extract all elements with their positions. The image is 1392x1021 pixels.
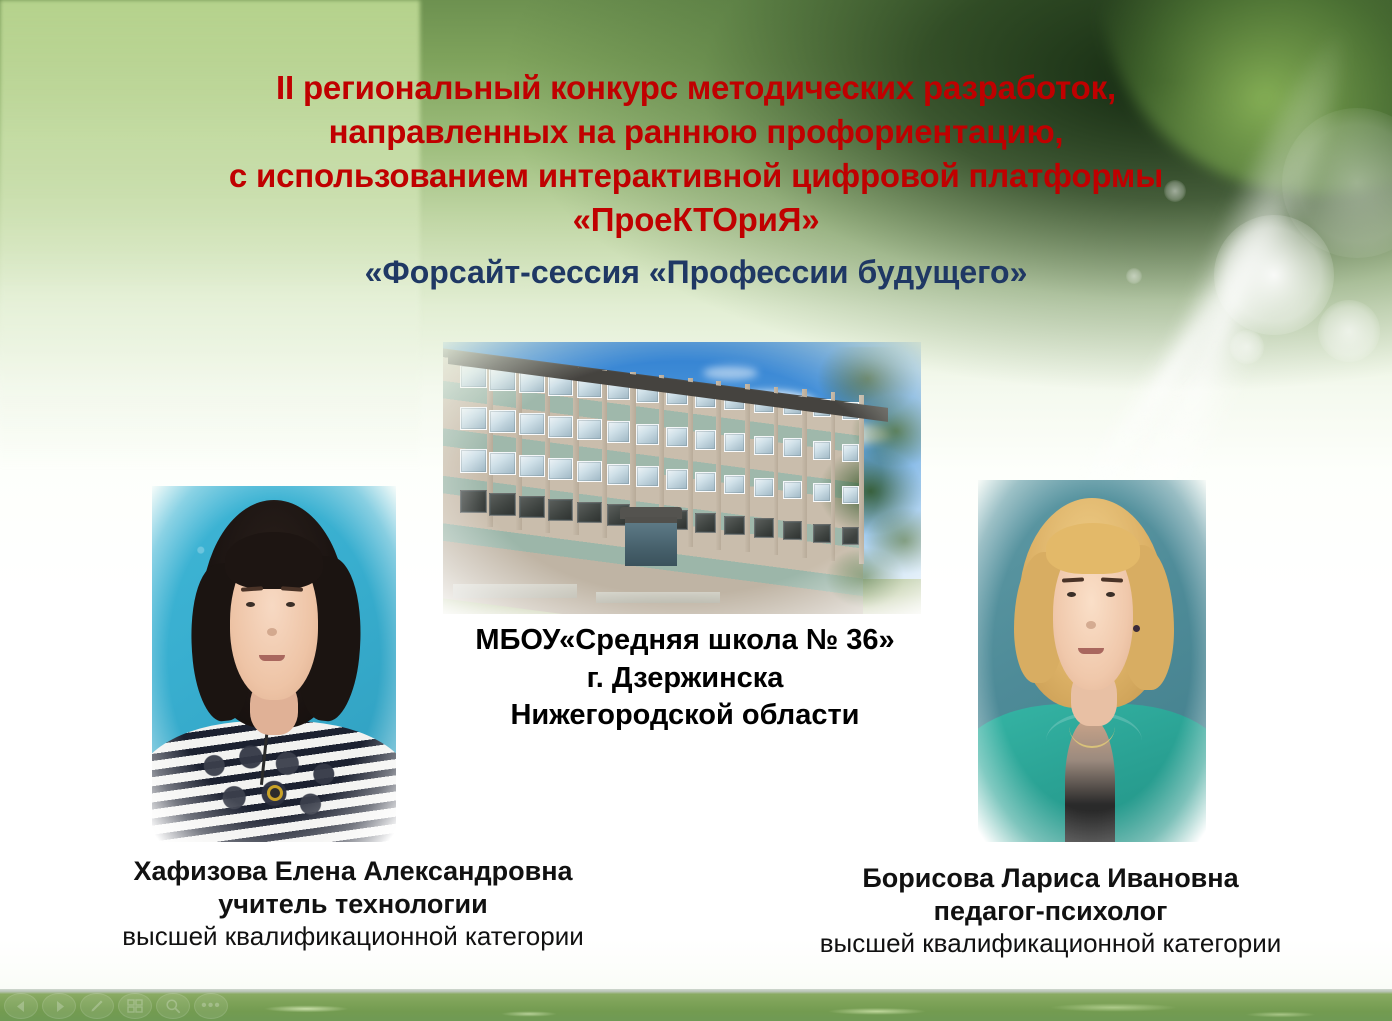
entrance-door	[625, 517, 678, 566]
building-window	[636, 424, 659, 445]
building-window	[548, 416, 573, 438]
portrait-borisova	[978, 480, 1206, 842]
person-name: Хафизова Елена Александровна	[18, 855, 688, 888]
building-window	[695, 513, 716, 533]
caption-hafizova: Хафизова Елена Александровна учитель тех…	[18, 855, 688, 953]
building-window	[607, 464, 631, 485]
eye-left-r	[286, 602, 295, 607]
building-window	[636, 466, 659, 487]
caption-borisova: Борисова Лариса Ивановна педагог-психоло…	[718, 862, 1383, 960]
all-slides-button[interactable]	[118, 993, 152, 1019]
page-subtitle: «Форсайт-сессия «Профессии будущего»	[40, 252, 1352, 294]
title-line-4: «ПроеКТОриЯ»	[40, 198, 1352, 242]
building-window	[519, 496, 545, 518]
person-qualification: высшей квалификационной категории	[18, 921, 688, 953]
facade-pier	[745, 384, 750, 553]
title-line-1: II региональный конкурс методических раз…	[40, 66, 1352, 110]
earring-right	[1133, 625, 1140, 632]
building-window	[460, 365, 488, 388]
more-options-button[interactable]: •••	[194, 993, 228, 1019]
person-role: учитель технологии	[18, 888, 688, 921]
building-window	[577, 502, 601, 524]
school-caption: МБОУ«Средняя школа № 36» г. Дзержинска Н…	[360, 622, 1010, 735]
facade-pier	[688, 378, 693, 547]
building-window	[754, 518, 774, 537]
building-window	[724, 433, 744, 453]
mouth-left	[259, 655, 285, 661]
building-window	[548, 458, 573, 480]
building-window	[724, 516, 744, 536]
building-window	[783, 521, 802, 540]
building-window	[695, 472, 716, 492]
person-role: педагог-психолог	[718, 895, 1383, 928]
mouth-right	[1078, 648, 1104, 654]
building-window	[460, 490, 488, 513]
building-window	[460, 449, 488, 472]
hair-right-fringe	[1046, 523, 1139, 574]
previous-slide-button[interactable]	[4, 993, 38, 1019]
title-line-2: направленных на раннюю профориентацию,	[40, 110, 1352, 154]
pen-tool-button[interactable]	[80, 993, 114, 1019]
zoom-in-button[interactable]	[156, 993, 190, 1019]
building-window	[783, 481, 802, 500]
facade-pier	[859, 395, 863, 564]
page-title: II региональный конкурс методических раз…	[40, 66, 1352, 242]
building-window	[577, 461, 601, 483]
portrait-hafizova	[152, 486, 396, 842]
building-window	[754, 436, 774, 455]
building-window	[754, 478, 774, 497]
building-windows	[443, 342, 921, 614]
more-options-label: •••	[201, 998, 221, 1014]
brow-right-r	[1101, 577, 1123, 582]
building-window	[813, 441, 831, 459]
building-window	[666, 469, 688, 489]
walkway	[453, 584, 577, 598]
building-window	[519, 455, 545, 477]
brow-right-l	[1062, 577, 1084, 582]
building-window	[519, 413, 545, 435]
facade-pier	[716, 381, 721, 550]
building-window	[813, 524, 831, 542]
building-window	[813, 483, 831, 501]
building-window	[489, 452, 516, 475]
building-window	[577, 419, 601, 441]
building-window	[489, 410, 516, 433]
school-caption-line-2: г. Дзержинска	[360, 660, 1010, 698]
building-window	[695, 430, 716, 450]
person-qualification: высшей квалификационной категории	[718, 928, 1383, 960]
school-building-photo	[443, 342, 921, 614]
building-window	[842, 444, 859, 462]
pendant-left	[267, 785, 283, 801]
building-window	[724, 475, 744, 495]
next-slide-button[interactable]	[42, 993, 76, 1019]
building-window	[489, 493, 516, 516]
building-window	[666, 427, 688, 447]
title-line-3: с использованием интерактивной цифровой …	[40, 154, 1352, 198]
school-caption-line-1: МБОУ«Средняя школа № 36»	[360, 622, 1010, 660]
building-window	[548, 499, 573, 521]
building-window	[607, 421, 631, 442]
eye-left-l	[246, 602, 255, 607]
building-window	[842, 486, 859, 504]
building-window	[783, 438, 802, 457]
person-name: Борисова Лариса Ивановна	[718, 862, 1383, 895]
hair-left-fringe	[225, 532, 323, 589]
presentation-slide: II региональный конкурс методических раз…	[0, 0, 1392, 1021]
slideshow-controls: •••	[4, 993, 228, 1019]
building-window	[460, 407, 488, 430]
building-window	[842, 527, 859, 545]
facade-pier	[802, 389, 807, 558]
facade-pier	[774, 387, 779, 556]
facade-pier	[831, 392, 836, 561]
school-caption-line-3: Нижегородской области	[360, 697, 1010, 735]
title-block: II региональный конкурс методических раз…	[0, 66, 1392, 293]
entrance-steps	[596, 592, 720, 603]
